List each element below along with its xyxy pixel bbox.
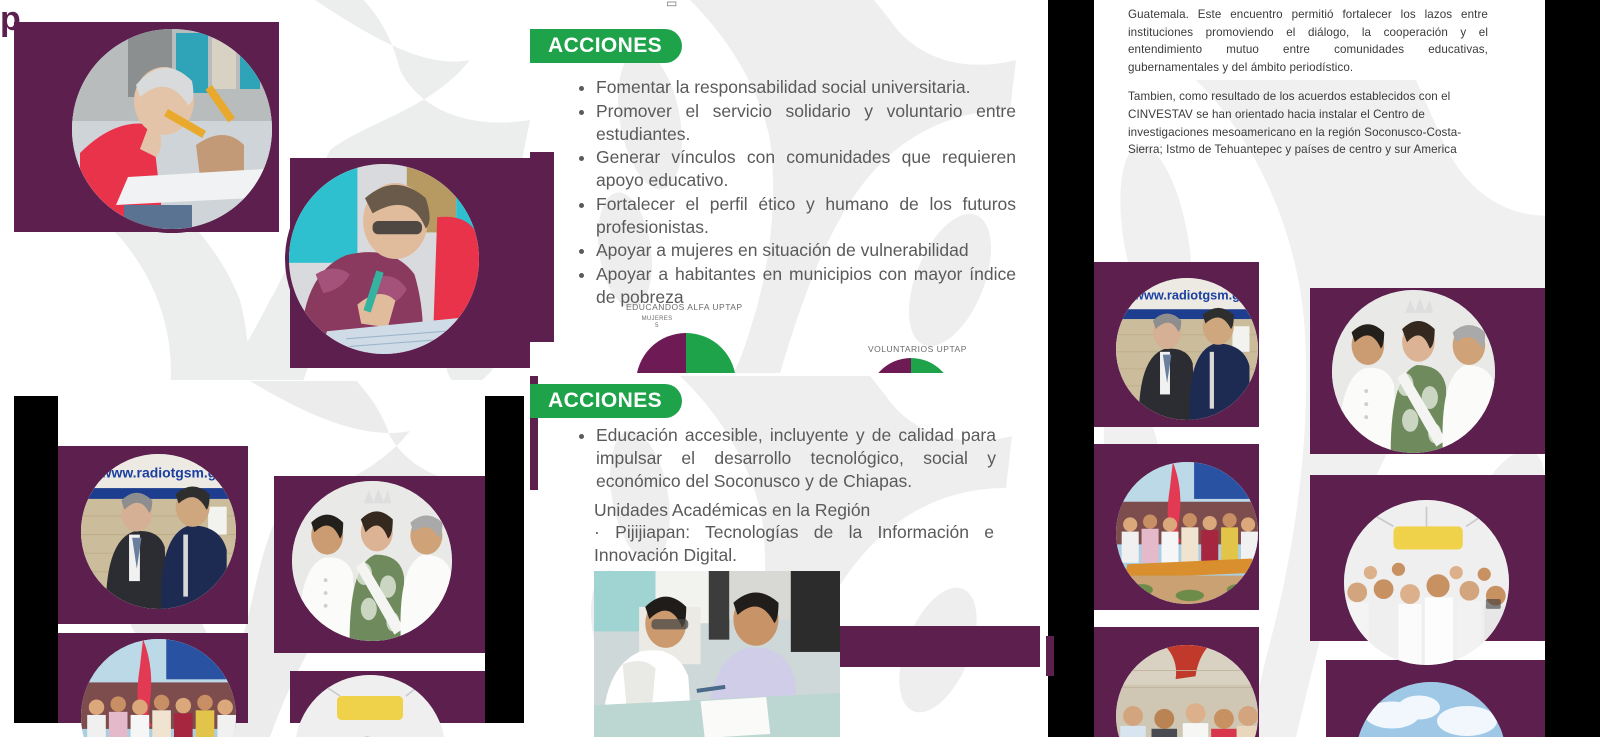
slide-left-bottom: www.radiotgsm.g	[0, 381, 530, 737]
photo-three-people-queen-sash	[1332, 290, 1495, 453]
photo-woman-glasses-writing-notebook	[285, 160, 483, 358]
pie-slice-group	[636, 333, 736, 373]
paragraph: Guatemala. Este encuentro permitió forta…	[1128, 6, 1488, 76]
badge-acciones-bottom: ACCIONES	[530, 384, 682, 418]
bullet-item: Generar vínculos con comunidades que req…	[596, 146, 1016, 192]
chart-label-text: MUJERES	[642, 316, 673, 322]
letterbox-left	[1048, 0, 1094, 737]
bullet-item: Apoyar a mujeres en situación de vulnera…	[596, 239, 1016, 262]
chart-label-value: 5	[655, 323, 659, 329]
svg-text:www.radiotgsm.g: www.radiotgsm.g	[100, 464, 217, 480]
letterbox-left	[14, 396, 58, 723]
cropped-text-artifact: ▭	[666, 0, 677, 10]
badge-acciones-top: ACCIONES	[530, 29, 682, 63]
slide-left-top: p	[0, 0, 530, 380]
stray-glyph-p: p	[0, 0, 21, 39]
bullet-list-center-top: Fomentar la responsabilidad social unive…	[576, 76, 1016, 310]
slide-right-document: Guatemala. Este encuentro permitió forta…	[1046, 0, 1600, 737]
photo-auditorium-group	[1344, 500, 1509, 665]
purple-accent-outer-left	[1046, 636, 1054, 676]
bullet-item: Fortalecer el perfil ético y humano de l…	[596, 193, 1016, 239]
chart-title: EDUCANDOS ALFA UPTAP	[626, 302, 743, 312]
photo-ribbon-cutting-group	[1116, 462, 1258, 604]
academic-units-item: · Pijijiapan: Tecnologías de la Informac…	[594, 521, 994, 567]
photo-three-people-queen-sash	[292, 481, 452, 641]
bullet-item: Fomentar la responsabilidad social unive…	[596, 76, 1016, 99]
chart-title: VOLUNTARIOS UPTAP	[868, 344, 967, 354]
bullet-list-center-bottom: Educación accesible, incluyente y de cal…	[576, 424, 996, 493]
bullet-item: Educación accesible, incluyente y de cal…	[596, 424, 996, 492]
bullet-item: Promover el servicio solidario y volunta…	[596, 100, 1016, 146]
right-panel-body-copy: Guatemala. Este encuentro permitió forta…	[1128, 6, 1488, 171]
chart-educandos-alfa-uptap: EDUCANDOS ALFA UPTAP MUJERES 5	[616, 302, 816, 373]
pie-slice-group	[868, 358, 954, 373]
photo-two-men-radio-tgsm: www.radiotgsm.g	[81, 454, 236, 609]
svg-text:www.radiotgsm.g: www.radiotgsm.g	[1133, 287, 1240, 302]
chart-voluntarios-uptap: VOLUNTARIOS UPTAP	[840, 318, 1040, 373]
purple-accent-left-edge	[530, 152, 554, 342]
slide-center-top: ▭ ACCIONES Fomentar la responsabilidad s…	[530, 0, 1040, 373]
letterbox-right	[485, 396, 524, 723]
screenshot-root: p www.radiotgsm.g	[0, 0, 1600, 737]
letterbox-right	[1545, 0, 1600, 737]
chart-slice-label-mujeres: MUJERES 5	[632, 316, 682, 329]
paragraph: Tambien, como resultado de los acuerdos …	[1128, 88, 1488, 158]
slide-center-bottom: ACCIONES Educación accesible, incluyente…	[530, 376, 1040, 737]
photo-elderly-woman-writing-red-shirt	[68, 25, 276, 233]
photo-two-men-signing-documents	[594, 571, 840, 737]
photo-two-men-radio-tgsm: www.radiotgsm.g	[1116, 278, 1258, 420]
purple-bar-bottom-right	[838, 626, 1040, 667]
academic-units-heading: Unidades Académicas en la Región	[594, 499, 1014, 522]
